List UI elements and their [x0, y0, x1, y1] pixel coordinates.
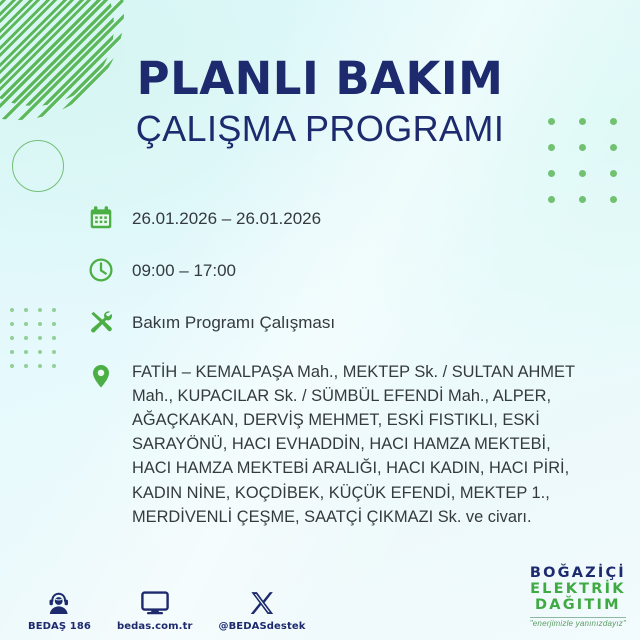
location-pin-icon	[86, 359, 116, 391]
dot	[38, 322, 42, 326]
dot	[548, 196, 555, 203]
dot	[610, 170, 617, 177]
brand-divider	[530, 617, 626, 618]
dot	[52, 308, 56, 312]
calendar-icon	[86, 203, 116, 233]
clock-icon	[86, 255, 116, 285]
dot	[52, 336, 56, 340]
dot	[52, 350, 56, 354]
contact-website[interactable]: bedas.com.tr	[117, 586, 193, 632]
dot	[38, 336, 42, 340]
dot	[579, 196, 586, 203]
poster-footer: BEDAŞ 186 bedas.com.tr	[0, 562, 640, 640]
contact-phone-label: BEDAŞ 186	[28, 621, 91, 632]
contact-channels: BEDAŞ 186 bedas.com.tr	[28, 586, 306, 632]
dot	[38, 308, 42, 312]
brand-line-bogazici: BOĞAZİÇİ	[530, 566, 626, 582]
maintenance-details: 26.01.2026 – 26.01.2026 09:00 – 17:00	[86, 203, 586, 529]
bedas-logo: BOĞAZİÇİ ELEKTRİK DAĞITIM "enerjimizle y…	[530, 566, 626, 628]
dot	[10, 350, 14, 354]
planned-maintenance-poster: PLANLI BAKIM ÇALIŞMA PROGRAMI	[0, 0, 640, 640]
call-center-agent-icon	[45, 586, 73, 616]
detail-row-date: 26.01.2026 – 26.01.2026	[86, 203, 586, 233]
dot	[52, 364, 56, 368]
date-range-text: 26.01.2026 – 26.01.2026	[132, 203, 321, 232]
dot	[10, 308, 14, 312]
page-title: PLANLI BAKIM	[0, 56, 640, 102]
detail-row-time: 09:00 – 17:00	[86, 255, 586, 285]
dot	[10, 336, 14, 340]
detail-row-work-type: Bakım Programı Çalışması	[86, 307, 586, 337]
dot	[24, 308, 28, 312]
dot	[24, 350, 28, 354]
tools-icon	[86, 307, 116, 337]
work-type-text: Bakım Programı Çalışması	[132, 307, 335, 336]
brand-line-dagitim: DAĞITIM	[530, 598, 626, 614]
x-twitter-icon	[249, 586, 275, 616]
dot	[10, 364, 14, 368]
time-range-text: 09:00 – 17:00	[132, 255, 236, 284]
dot	[579, 170, 586, 177]
dot	[38, 364, 42, 368]
poster-header: PLANLI BAKIM ÇALIŞMA PROGRAMI	[0, 56, 640, 149]
dot	[24, 364, 28, 368]
dot	[10, 322, 14, 326]
contact-x-twitter-label: @BEDASdestek	[218, 621, 305, 632]
dot	[52, 322, 56, 326]
affected-area-text: FATİH – KEMALPAŞA Mah., MEKTEP Sk. / SUL…	[132, 359, 586, 529]
page-subtitle: ÇALIŞMA PROGRAMI	[0, 108, 640, 149]
contact-phone[interactable]: BEDAŞ 186	[28, 586, 91, 632]
dot	[610, 196, 617, 203]
contact-website-label: bedas.com.tr	[117, 621, 193, 632]
dot	[24, 336, 28, 340]
dot	[24, 322, 28, 326]
brand-line-elektrik: ELEKTRİK	[530, 582, 626, 598]
brand-tagline: "enerjimizle yanınızdayız"	[530, 619, 626, 628]
dot	[38, 350, 42, 354]
dot	[548, 170, 555, 177]
detail-row-affected-area: FATİH – KEMALPAŞA Mah., MEKTEP Sk. / SUL…	[86, 359, 586, 529]
monitor-icon	[140, 586, 170, 616]
dot-grid-decoration-left	[10, 308, 66, 378]
contact-x-twitter[interactable]: @BEDASdestek	[218, 586, 305, 632]
